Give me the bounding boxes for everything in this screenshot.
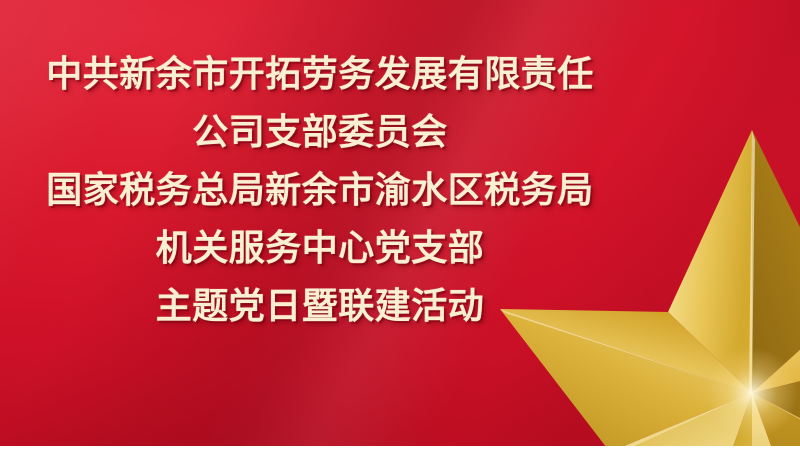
- headline-line-4: 机关服务中心党支部: [0, 220, 640, 278]
- poster-headline: 中共新余市开拓劳务发展有限责任 公司支部委员会 国家税务总局新余市渝水区税务局 …: [0, 46, 640, 336]
- headline-line-2: 公司支部委员会: [0, 104, 640, 162]
- headline-line-5: 主题党日暨联建活动: [0, 278, 640, 336]
- headline-line-1: 中共新余市开拓劳务发展有限责任: [0, 46, 640, 104]
- headline-line-3: 国家税务总局新余市渝水区税务局: [0, 162, 640, 220]
- bottom-white-strip: [0, 446, 800, 450]
- poster-canvas: 中共新余市开拓劳务发展有限责任 公司支部委员会 国家税务总局新余市渝水区税务局 …: [0, 0, 800, 450]
